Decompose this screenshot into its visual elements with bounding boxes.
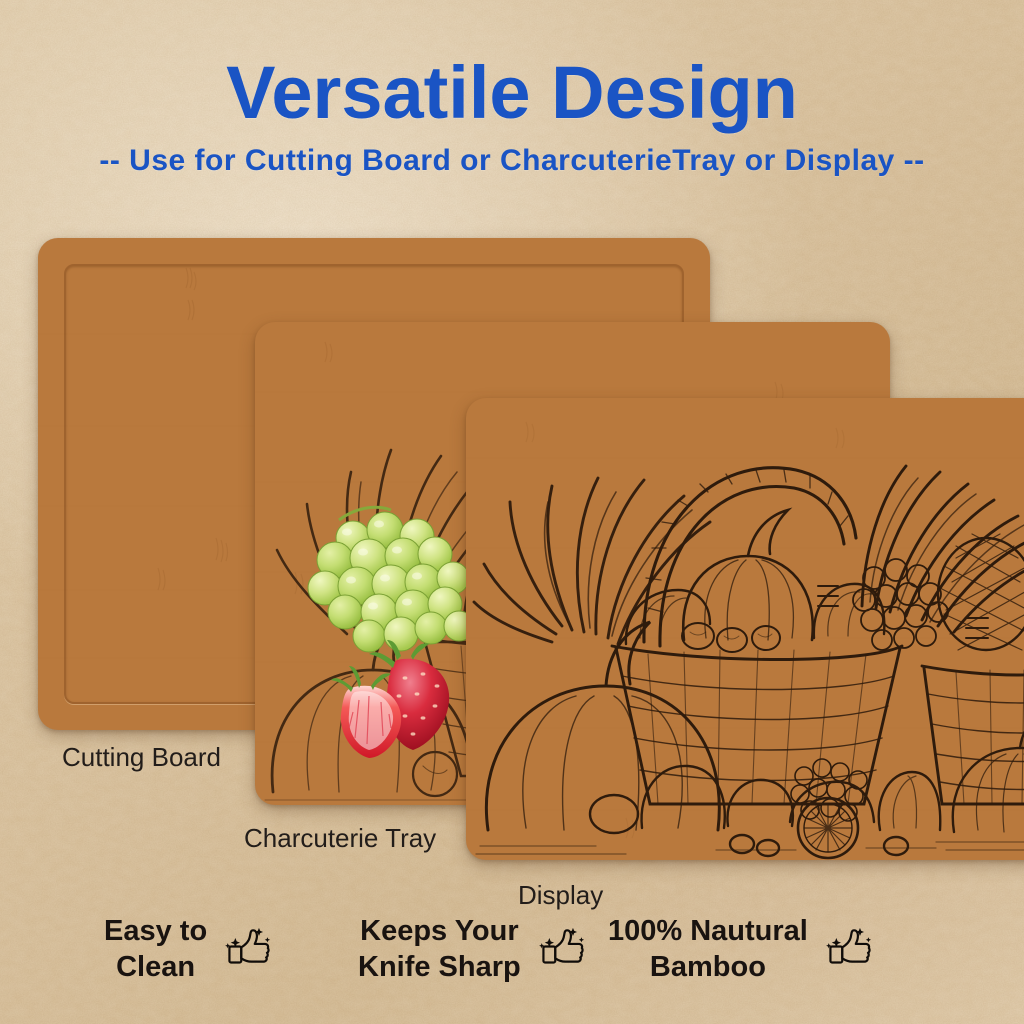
thumbs-up-sparkle-icon bbox=[822, 922, 876, 976]
feature-label: Easy to Clean bbox=[104, 913, 207, 985]
page-title: Versatile Design bbox=[0, 50, 1024, 136]
thumbs-up-sparkle-icon bbox=[221, 922, 275, 976]
feature-label: 100% Nautural Bamboo bbox=[608, 913, 808, 985]
feature-list: Easy to Clean Keeps Your Knife Sharp bbox=[0, 905, 1024, 1010]
feature-label: Keeps Your Knife Sharp bbox=[358, 913, 521, 985]
board-display[interactable] bbox=[466, 398, 1024, 860]
feature-easy-to-clean: Easy to Clean bbox=[104, 913, 275, 985]
feature-keeps-knife-sharp: Keeps Your Knife Sharp bbox=[358, 913, 589, 985]
page-subtitle: -- Use for Cutting Board or CharcuterieT… bbox=[0, 142, 1024, 180]
feature-natural-bamboo: 100% Nautural Bamboo bbox=[608, 913, 876, 985]
label-charcuterie-tray: Charcuterie Tray bbox=[244, 823, 436, 853]
product-infographic: Versatile Design -- Use for Cutting Boar… bbox=[0, 0, 1024, 1024]
bamboo-node-marks bbox=[466, 398, 1024, 860]
thumbs-up-sparkle-icon bbox=[535, 922, 589, 976]
label-cutting-board: Cutting Board bbox=[62, 742, 221, 772]
